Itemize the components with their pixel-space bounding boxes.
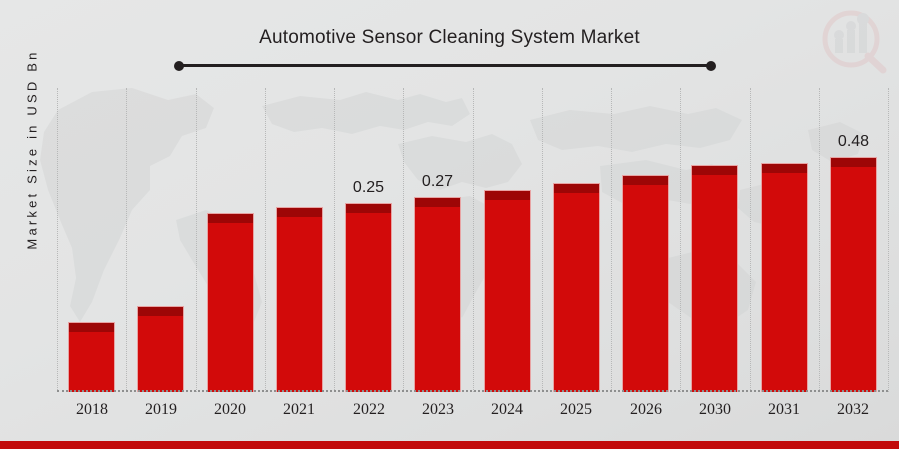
gridline [334,88,335,392]
bar-2031[interactable] [761,163,808,392]
rule-dot-right [706,61,716,71]
bar-cap [485,191,530,200]
gridline [57,88,58,392]
bar-value-label-2032: 0.48 [838,133,869,151]
x-tick-label-2030: 2030 [699,401,731,419]
bar-cap [138,307,183,316]
bottom-accent-band [0,441,899,449]
bar-2020[interactable] [207,213,254,392]
chart-canvas: Automotive Sensor Cleaning System Market… [0,0,899,449]
gridline [403,88,404,392]
gridline [819,88,820,392]
bar-2030[interactable] [691,165,738,392]
bar-cap [277,208,322,217]
x-tick-label-2021: 2021 [283,401,315,419]
x-tick-label-2026: 2026 [630,401,662,419]
x-tick-label-2018: 2018 [76,401,108,419]
gridline [542,88,543,392]
bar-cap [692,166,737,175]
plot-area: 0.250.270.48 [57,88,888,392]
y-axis-title: Market Size in USD Bn [25,10,40,290]
gridline [680,88,681,392]
gridline [196,88,197,392]
x-tick-label-2032: 2032 [837,401,869,419]
x-tick-label-2019: 2019 [145,401,177,419]
gridline [611,88,612,392]
bar-2032[interactable]: 0.48 [830,157,877,392]
rule-dot-left [174,61,184,71]
x-tick-label-2022: 2022 [353,401,385,419]
bar-cap [415,198,460,207]
bar-2023[interactable]: 0.27 [414,197,461,392]
bar-value-label-2023: 0.27 [422,173,453,191]
bar-cap [554,184,599,193]
gridline [888,88,889,392]
chart-title: Automotive Sensor Cleaning System Market [0,26,899,50]
gridline [473,88,474,392]
chart-title-block: Automotive Sensor Cleaning System Market [0,26,899,50]
bar-2022[interactable]: 0.25 [345,203,392,392]
bar-2026[interactable] [622,175,669,392]
bar-cap [831,158,876,167]
bar-cap [623,176,668,185]
bar-2025[interactable] [553,183,600,392]
x-tick-label-2023: 2023 [422,401,454,419]
bar-2019[interactable] [137,306,184,392]
x-axis-labels: 2018201920202021202220232024202520262030… [57,401,888,425]
bar-value-label-2022: 0.25 [353,179,384,197]
bar-cap [762,164,807,173]
bar-cap [346,204,391,213]
gridline [750,88,751,392]
bar-cap [208,214,253,223]
x-axis-baseline [57,390,888,392]
bar-2018[interactable] [68,322,115,392]
x-tick-label-2024: 2024 [491,401,523,419]
x-tick-label-2020: 2020 [214,401,246,419]
title-underline-rule [178,64,712,67]
x-tick-label-2031: 2031 [768,401,800,419]
bar-2021[interactable] [276,207,323,392]
bar-cap [69,323,114,332]
gridline [126,88,127,392]
x-tick-label-2025: 2025 [560,401,592,419]
gridline [265,88,266,392]
bar-2024[interactable] [484,190,531,392]
